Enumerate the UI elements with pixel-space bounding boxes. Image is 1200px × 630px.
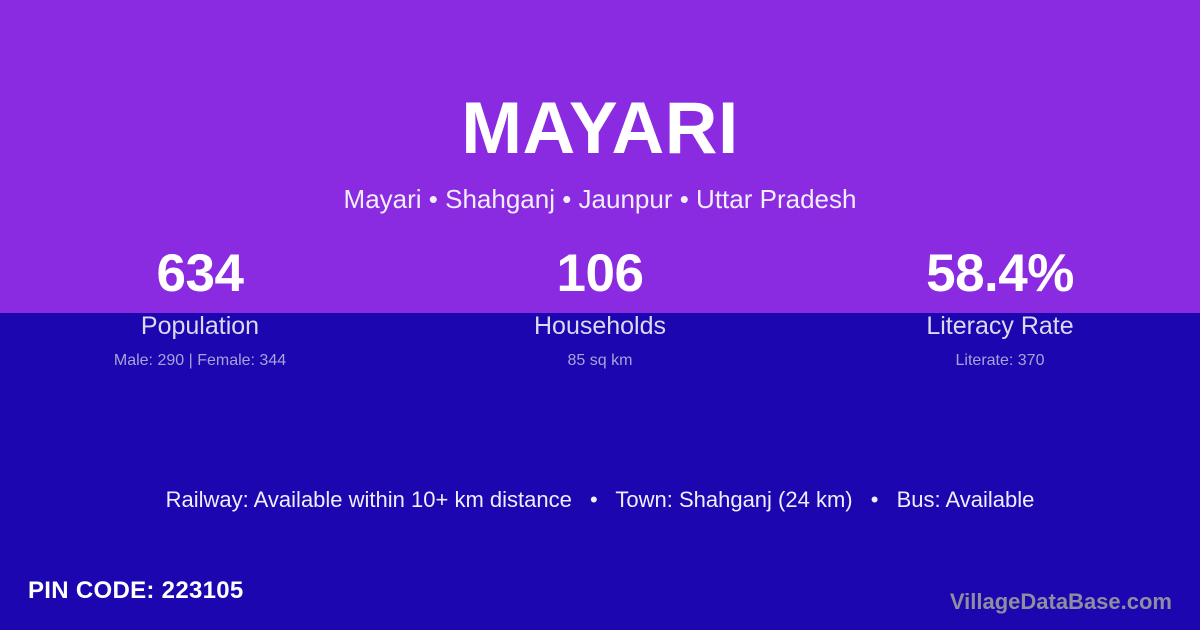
stat-label-literacy-rate: Literacy Rate [926, 312, 1073, 341]
pin-code: PIN CODE: 223105 [28, 576, 244, 606]
stats-row: 634 Population Male: 290 | Female: 344 1… [0, 243, 1200, 383]
stat-population: 634 Population Male: 290 | Female: 344 [0, 243, 400, 383]
connectivity-bus: Bus: Available [897, 487, 1035, 512]
stat-value-literacy-rate: 58.4% [926, 243, 1074, 305]
page-title: MAYARI [0, 86, 1200, 172]
breadcrumb: Mayari • Shahganj • Jaunpur • Uttar Prad… [0, 182, 1200, 216]
stat-label-households: Households [534, 312, 666, 341]
stat-households: 106 Households 85 sq km [400, 243, 800, 383]
connectivity-info: Railway: Available within 10+ km distanc… [0, 486, 1200, 514]
bullet-separator-icon: • [859, 486, 891, 514]
connectivity-railway: Railway: Available within 10+ km distanc… [166, 487, 572, 512]
stat-value-households: 106 [557, 243, 644, 305]
stat-sub-literacy-rate: Literate: 370 [956, 351, 1045, 370]
stat-literacy-rate: 58.4% Literacy Rate Literate: 370 [800, 243, 1200, 383]
bullet-separator-icon: • [578, 486, 610, 514]
connectivity-town: Town: Shahganj (24 km) [615, 487, 852, 512]
stat-sub-households: 85 sq km [568, 351, 633, 370]
stat-label-population: Population [141, 312, 259, 341]
village-info-card: MAYARI Mayari • Shahganj • Jaunpur • Utt… [0, 0, 1200, 630]
stat-sub-population: Male: 290 | Female: 344 [114, 351, 286, 370]
stat-value-population: 634 [157, 243, 244, 305]
brand-watermark: VillageDataBase.com [950, 588, 1172, 615]
